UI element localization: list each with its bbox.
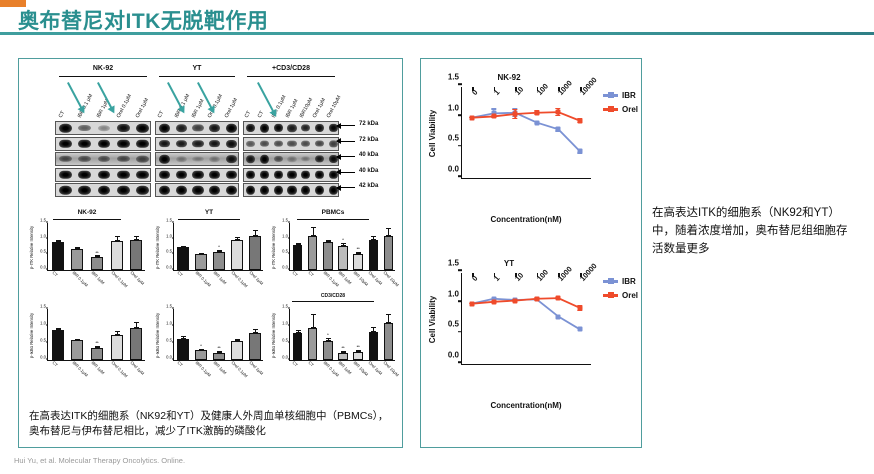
significance-marker: *: [218, 244, 220, 249]
bar: [308, 236, 317, 270]
blot-band: [260, 186, 269, 195]
bar-chart-x-tick-label: Orel 10μM: [383, 270, 400, 287]
blot-band: [209, 140, 220, 148]
blot-band: [287, 186, 296, 195]
data-point: [491, 114, 496, 119]
bar-chart-x-tick-label: CT: [292, 270, 299, 277]
blot-lane-label: CT: [58, 110, 67, 119]
bar: [195, 350, 206, 360]
bar-chart-condition-rule: [292, 301, 374, 302]
blot-band: [246, 140, 255, 146]
bar-chart-plot-area: 0.00.51.01.5CTIBR 0.1μM**IBR 1μMOrel 0.1…: [47, 309, 145, 361]
bar-chart-plot-area: 0.00.51.01.5CTCT*IBR 0.1μM**IBR 1μM**IBR…: [289, 309, 395, 361]
line-chart-plot-area: 0.00.51.01.50110100100010000: [461, 273, 591, 365]
bar: [323, 341, 332, 360]
blot-band-row: [155, 152, 239, 166]
blot-group-title: NK-92: [55, 65, 151, 72]
significance-marker: *: [327, 332, 329, 337]
bar: [323, 242, 332, 270]
blot-band: [301, 124, 310, 131]
mw-marker: 72 kDa: [337, 121, 399, 137]
bar-chart-y-tick-mark: [172, 253, 174, 254]
bar-chart-y-axis-title-text: p-ITK Relative Intensity: [30, 225, 35, 268]
error-bar: [136, 322, 137, 329]
error-bar: [343, 351, 344, 353]
line-chart-y-tick-mark: [458, 270, 462, 272]
bar-chart-y-axis-title-text: p-IκBα Relative Intensity: [272, 312, 277, 357]
legend-marker-icon: [603, 94, 618, 97]
significance-marker: **: [341, 345, 344, 350]
line-chart-x-axis-title: Concentration(nM): [461, 215, 591, 224]
bar-chart-x-tick-label: Orel 1μM: [130, 360, 146, 376]
blot-band: [117, 170, 130, 179]
error-bar: [117, 331, 118, 334]
blot-band: [260, 140, 269, 147]
blot-band: [78, 139, 91, 148]
data-point: [513, 298, 518, 303]
blot-band: [226, 186, 237, 195]
page-title: 奥布替尼对ITK无脱靶作用: [18, 5, 268, 35]
blot-band: [226, 124, 237, 133]
blot-band-row: β-actin: [55, 183, 151, 197]
blot-band: [176, 140, 187, 148]
bar-chart-y-axis-title: p-ITK Relative Intensity: [154, 223, 162, 271]
blot-band: [301, 170, 310, 179]
blot-lane-label: CT: [257, 110, 266, 119]
bar-chart-x-tick-label: IBR 1μM: [91, 270, 106, 285]
line-chart-y-tick-label: 1.0: [448, 289, 459, 298]
significance-marker: **: [357, 344, 360, 349]
blot-band: [315, 170, 324, 179]
bar: [111, 241, 123, 270]
blot-band: [117, 139, 130, 148]
bar-chart-y-axis-title: p-IκBα Relative Intensity: [270, 309, 278, 361]
blot-band-row: IκBα: [55, 168, 151, 182]
bar-chart-x-tick-label: CT: [177, 360, 184, 367]
blot-band: [98, 186, 111, 195]
legend-item[interactable]: Orel: [603, 105, 638, 114]
bar-chart-y-axis-title: p-ITK Relative Intensity: [270, 223, 278, 271]
blot-band: [287, 156, 296, 162]
blot-band-row: [155, 183, 239, 197]
blot-lane-label: IBR 1μM: [285, 98, 300, 119]
error-bar: [97, 346, 98, 348]
blot-band: [192, 156, 203, 161]
blot-band: [192, 170, 203, 179]
bar: [130, 240, 142, 270]
blot-band: [59, 124, 72, 133]
line-chart-y-axis-title-text: Cell Viability: [428, 109, 437, 156]
bar-chart-x-tick-label: CT: [307, 360, 314, 367]
bar: [293, 245, 302, 270]
bar-chart-y-tick-mark: [46, 342, 48, 343]
bar-chart: CD3/CD28p-IκBα Relative Intensity0.00.51…: [269, 295, 397, 381]
legend-marker-icon: [603, 294, 618, 297]
citation-footer: Hui Yu, et al. Molecular Therapy Oncolyt…: [14, 456, 185, 465]
bar: [71, 249, 83, 270]
blot-band: [98, 125, 111, 131]
blot-band: [98, 139, 111, 148]
blot-band: [226, 155, 237, 163]
bar-chart-plot-area: 0.00.51.01.5CTCTIBR 0.1μM*IBR 1μM**IBR 1…: [289, 223, 395, 271]
blot-band: [117, 156, 130, 162]
bar-chart-x-tick-label: IBR 1μM: [91, 360, 106, 375]
significance-marker: **: [357, 246, 360, 251]
data-point: [556, 127, 561, 132]
bar: [195, 254, 206, 270]
blot-band: [59, 139, 72, 148]
bar-chart-plot-area: 0.00.51.01.5CTIBR 0.1μM*IBR 1μMOrel 0.1μ…: [173, 223, 263, 271]
error-bar: [201, 253, 202, 254]
data-point: [513, 111, 518, 116]
blot-band: [209, 186, 220, 195]
bar-chart-y-axis-title: p-IκBα Relative Intensity: [28, 309, 36, 361]
bar: [369, 332, 378, 360]
line-chart-y-axis-title-text: Cell Viability: [428, 295, 437, 342]
bar-chart-y-tick-mark: [288, 237, 290, 238]
bar: [353, 352, 362, 360]
bar-chart-x-tick-label: CT: [52, 270, 59, 277]
significance-marker: *: [342, 237, 344, 242]
data-point: [556, 110, 561, 115]
bar: [369, 240, 378, 270]
bar-chart-x-tick-label: Orel 10μM: [383, 360, 400, 377]
line-chart-plot-area: 0.00.51.01.50110100100010000: [461, 87, 591, 179]
error-bar: [373, 327, 374, 331]
bar-chart-y-axis-title: p-IκBα Relative Intensity: [154, 309, 162, 361]
error-bar: [298, 243, 299, 245]
error-bar: [237, 339, 238, 342]
bar-chart-title: YT: [153, 209, 265, 216]
bar: [213, 252, 224, 270]
significance-marker: **: [217, 345, 220, 350]
bar-chart: p-IκBα Relative Intensity0.00.51.01.5CT*…: [153, 295, 265, 381]
blot-band: [301, 186, 310, 195]
blot-band: [246, 170, 255, 179]
data-point: [470, 115, 475, 120]
mw-marker-label: 40 kDa: [359, 168, 378, 174]
bar-chart-x-tick-label: IBR 1μM: [213, 360, 228, 375]
bar: [130, 328, 142, 360]
bar: [91, 348, 103, 360]
blot-band: [287, 124, 296, 132]
slide-root: 奥布替尼对ITK无脱靶作用 NK-92CTIBR 0.1 μMIBR 1μMOr…: [0, 0, 874, 474]
bar-chart-title-rule: [178, 219, 241, 220]
legend-label: IBR: [622, 277, 636, 286]
error-bar: [388, 228, 389, 236]
mw-marker-label: 72 kDa: [359, 137, 378, 143]
arrow-left-icon: [337, 125, 355, 126]
error-bar: [328, 240, 329, 243]
error-bar: [358, 350, 359, 352]
blot-band: [246, 155, 255, 163]
line-chart-y-tick-mark: [458, 84, 462, 86]
blot-band: [246, 186, 255, 195]
mw-marker-label: 72 kDa: [359, 121, 378, 127]
bar: [353, 254, 362, 270]
bar-chart-plot-area: 0.00.51.01.5CTIBR 0.1μM**IBR 1μMOrel 0.1…: [47, 223, 145, 271]
bar-chart-title: NK-92: [27, 209, 147, 216]
bar: [249, 333, 260, 360]
blot-band-row: [243, 152, 339, 166]
data-point: [534, 120, 539, 125]
bar-chart-y-tick-mark: [172, 325, 174, 326]
line-chart: NK-92Cell Viability0.00.51.01.5011010010…: [427, 73, 637, 253]
bar-chart-y-tick-mark: [46, 269, 48, 270]
arrow-left-icon: [337, 172, 355, 173]
blot-band: [136, 156, 149, 163]
blot-band: [59, 156, 72, 162]
bar-chart-x-tick-label: Orel 1μM: [249, 270, 265, 286]
blot-band: [274, 156, 283, 162]
line-chart-series-svg: [462, 87, 592, 179]
blot-band: [78, 186, 91, 195]
error-bar: [77, 247, 78, 249]
data-point: [534, 296, 539, 301]
blot-band: [98, 156, 111, 162]
blot-band-row: [155, 137, 239, 151]
data-point: [578, 118, 583, 123]
blot-rows: p-ITKITKp-IκBαIκBαβ-actin: [55, 121, 151, 199]
line-chart-legend: IBROrel: [603, 91, 638, 119]
blot-group-title: +CD3/CD28: [243, 65, 339, 72]
blot-lane-label: Orel 10μM: [326, 95, 343, 119]
blot-band: [301, 140, 310, 147]
blot-group-rule: [59, 76, 147, 77]
bar-chart-y-tick-mark: [172, 269, 174, 270]
bar-chart-x-tick-label: Orel 0.1μM: [231, 360, 249, 378]
blot-lane-label: Orel 0.1μM: [115, 93, 132, 119]
line-chart-y-tick-label: 0.0: [448, 351, 459, 360]
right-figure-panel: NK-92Cell Viability0.00.51.01.5011010010…: [420, 58, 642, 448]
bar: [91, 257, 103, 270]
error-bar: [58, 328, 59, 330]
error-bar: [298, 330, 299, 333]
legend-label: Orel: [622, 291, 638, 300]
bar: [52, 242, 64, 270]
blot-band-row: [155, 168, 239, 182]
error-bar: [313, 227, 314, 236]
error-bar: [219, 250, 220, 253]
blot-band: [260, 124, 269, 133]
bar-chart: PBMCsp-ITK Relative Intensity0.00.51.01.…: [269, 209, 397, 291]
bar-chart-y-tick-mark: [288, 269, 290, 270]
line-chart-legend: IBROrel: [603, 277, 638, 305]
blot-band-row: [243, 168, 339, 182]
blot-band: [315, 140, 324, 147]
blot-band: [226, 170, 237, 179]
bar-chart-y-tick-mark: [288, 359, 290, 360]
bar: [384, 236, 393, 270]
bar-chart: YTp-ITK Relative Intensity0.00.51.01.5CT…: [153, 209, 265, 291]
bar: [111, 335, 123, 361]
legend-item[interactable]: IBR: [603, 91, 638, 100]
blot-band: [136, 124, 149, 133]
line-chart-y-tick-label: 1.5: [448, 73, 459, 82]
blot-band: [136, 170, 149, 179]
blot-band: [59, 170, 72, 179]
bar-chart-condition-label: CD3/CD28: [292, 293, 374, 299]
bar: [249, 236, 260, 270]
bar-chart-x-tick-label: Orel 0.1μM: [110, 360, 128, 378]
bar-chart-y-tick-mark: [46, 222, 48, 223]
legend-item[interactable]: IBR: [603, 277, 638, 286]
mw-marker-label: 42 kDa: [359, 183, 378, 189]
bar-chart-x-tick-label: CT: [177, 270, 184, 277]
bar-chart-y-tick-mark: [46, 253, 48, 254]
bar-chart-x-tick-label: IBR 0.1μM: [71, 270, 89, 288]
bar-chart-x-tick-label: Orel 0.1μM: [231, 270, 249, 288]
blot-band-row: [243, 183, 339, 197]
arrow-left-icon: [337, 156, 355, 157]
blot-band: [78, 125, 91, 131]
blot-band: [260, 155, 269, 164]
bar-chart-y-tick-mark: [46, 359, 48, 360]
bar-chart: NK-92p-ITK Relative Intensity0.00.51.01.…: [27, 209, 147, 291]
error-bar: [373, 236, 374, 240]
data-point: [578, 327, 583, 332]
blot-band: [117, 186, 130, 195]
error-bar: [183, 336, 184, 339]
legend-item[interactable]: Orel: [603, 291, 638, 300]
arrow-left-icon: [337, 141, 355, 142]
bar-chart-x-tick-label: IBR 0.1μM: [195, 270, 213, 288]
bar-chart-x-tick-label: Orel 1μM: [368, 360, 384, 376]
blot-band: [301, 156, 310, 161]
blot-band-row: [243, 121, 339, 135]
blot-band: [209, 156, 220, 162]
bar-chart-x-tick-label: Orel 1μM: [249, 360, 265, 376]
blot-band: [159, 170, 170, 179]
blot-band: [176, 170, 187, 179]
bar-chart-plot-area: 0.00.51.01.5CT*IBR 0.1μM**IBR 1μMOrel 0.…: [173, 309, 263, 361]
bar-chart-title-rule: [53, 219, 120, 220]
bar-chart-y-tick-mark: [172, 342, 174, 343]
bar: [177, 247, 188, 270]
blot-band: [192, 186, 203, 195]
blot-band: [209, 170, 220, 179]
data-point: [556, 296, 561, 301]
blot-band-row: [155, 121, 239, 135]
legend-label: IBR: [622, 91, 636, 100]
error-bar: [77, 339, 78, 341]
blot-band: [315, 124, 324, 132]
blot-band: [159, 155, 170, 164]
bar-chart-x-tick-label: CT: [52, 360, 59, 367]
line-chart-y-tick-label: 0.5: [448, 320, 459, 329]
legend-marker-icon: [603, 280, 618, 283]
western-blot-figure: NK-92CTIBR 0.1 μMIBR 1μMOrel 0.1μMOrel 1…: [25, 65, 397, 207]
blot-band: [176, 124, 187, 132]
error-bar: [388, 314, 389, 322]
bar-chart-x-tick-label: Orel 0.1μM: [110, 270, 128, 288]
line-chart-y-axis-title: Cell Viability: [427, 273, 438, 365]
blot-band-row: ITK: [55, 137, 151, 151]
blot-lane-label: IBR 1μM: [190, 98, 205, 119]
line-chart-y-tick-label: 0.0: [448, 165, 459, 174]
bar-chart-x-tick-label: CT: [307, 270, 314, 277]
error-bar: [201, 349, 202, 351]
title-divider: [0, 32, 874, 35]
blot-band: [260, 170, 269, 179]
data-point: [578, 305, 583, 310]
bar-chart-y-tick-mark: [288, 308, 290, 309]
molecular-weight-markers: 72 kDa72 kDa40 kDa40 kDa42 kDa: [337, 121, 399, 199]
bar: [71, 340, 83, 360]
significance-marker: **: [95, 340, 98, 345]
blot-band: [246, 124, 255, 132]
line-chart-x-axis-title: Concentration(nM): [461, 401, 591, 410]
blot-band: [176, 156, 187, 162]
data-point: [578, 149, 583, 154]
bar-chart-y-tick-mark: [172, 237, 174, 238]
significance-marker: **: [95, 250, 98, 255]
blot-band-row: p-IκBα: [55, 152, 151, 166]
bar-chart-y-axis-title-text: p-ITK Relative Intensity: [156, 225, 161, 268]
error-bar: [117, 236, 118, 241]
bar: [293, 333, 302, 360]
bar: [213, 353, 224, 360]
bar: [308, 328, 317, 360]
error-bar: [343, 243, 344, 246]
blot-lane-label: CT: [157, 110, 166, 119]
bar-chart-x-tick-label: CT: [292, 360, 299, 367]
bar-chart-x-tick-label: IBR 0.1μM: [71, 360, 89, 378]
line-chart-series-svg: [462, 273, 592, 365]
mw-marker-label: 40 kDa: [359, 152, 378, 158]
mw-marker: 42 kDa: [337, 183, 399, 199]
blot-band: [287, 140, 296, 147]
line-chart-y-tick-label: 1.0: [448, 103, 459, 112]
error-bar: [219, 351, 220, 353]
blot-band: [136, 186, 149, 195]
blot-band: [226, 139, 237, 147]
blot-band: [192, 124, 203, 131]
legend-marker-icon: [603, 108, 618, 111]
blot-band: [159, 124, 170, 133]
line-chart: YTCell Viability0.00.51.01.5011010010001…: [427, 259, 637, 439]
blot-band: [274, 170, 283, 179]
blot-band-row: p-ITK: [55, 121, 151, 135]
blot-band: [315, 155, 324, 162]
arrow-left-icon: [337, 187, 355, 188]
error-bar: [255, 230, 256, 236]
blot-band: [159, 186, 170, 195]
error-bar: [58, 240, 59, 243]
bar-chart-y-tick-mark: [288, 222, 290, 223]
blot-lane-label: Orel 1μM: [135, 97, 150, 119]
blot-band: [274, 186, 283, 195]
data-point: [556, 314, 561, 319]
blot-group-rule: [247, 76, 335, 77]
error-bar: [313, 314, 314, 328]
bar-chart-y-tick-mark: [288, 253, 290, 254]
line-chart-y-tick-label: 1.5: [448, 259, 459, 268]
bar-chart-x-tick-label: IBR 1μM: [213, 270, 228, 285]
bar-chart: p-IκBα Relative Intensity0.00.51.01.5CTI…: [27, 295, 147, 381]
bar-chart-y-tick-mark: [288, 342, 290, 343]
bar-chart-y-tick-mark: [172, 308, 174, 309]
blot-band: [136, 139, 149, 148]
blot-band: [209, 124, 220, 132]
bar: [338, 353, 347, 360]
bar-chart-y-axis-title: p-ITK Relative Intensity: [28, 223, 36, 271]
blot-rows: [155, 121, 239, 199]
right-panel-caption: 在高表达ITK的细胞系（NK92和YT）中，随着浓度增加，奥布替尼组细胞存活数量…: [652, 205, 852, 258]
bar-chart-y-tick-mark: [46, 308, 48, 309]
bar-chart-y-tick-mark: [172, 359, 174, 360]
blot-band-row: [243, 137, 339, 151]
